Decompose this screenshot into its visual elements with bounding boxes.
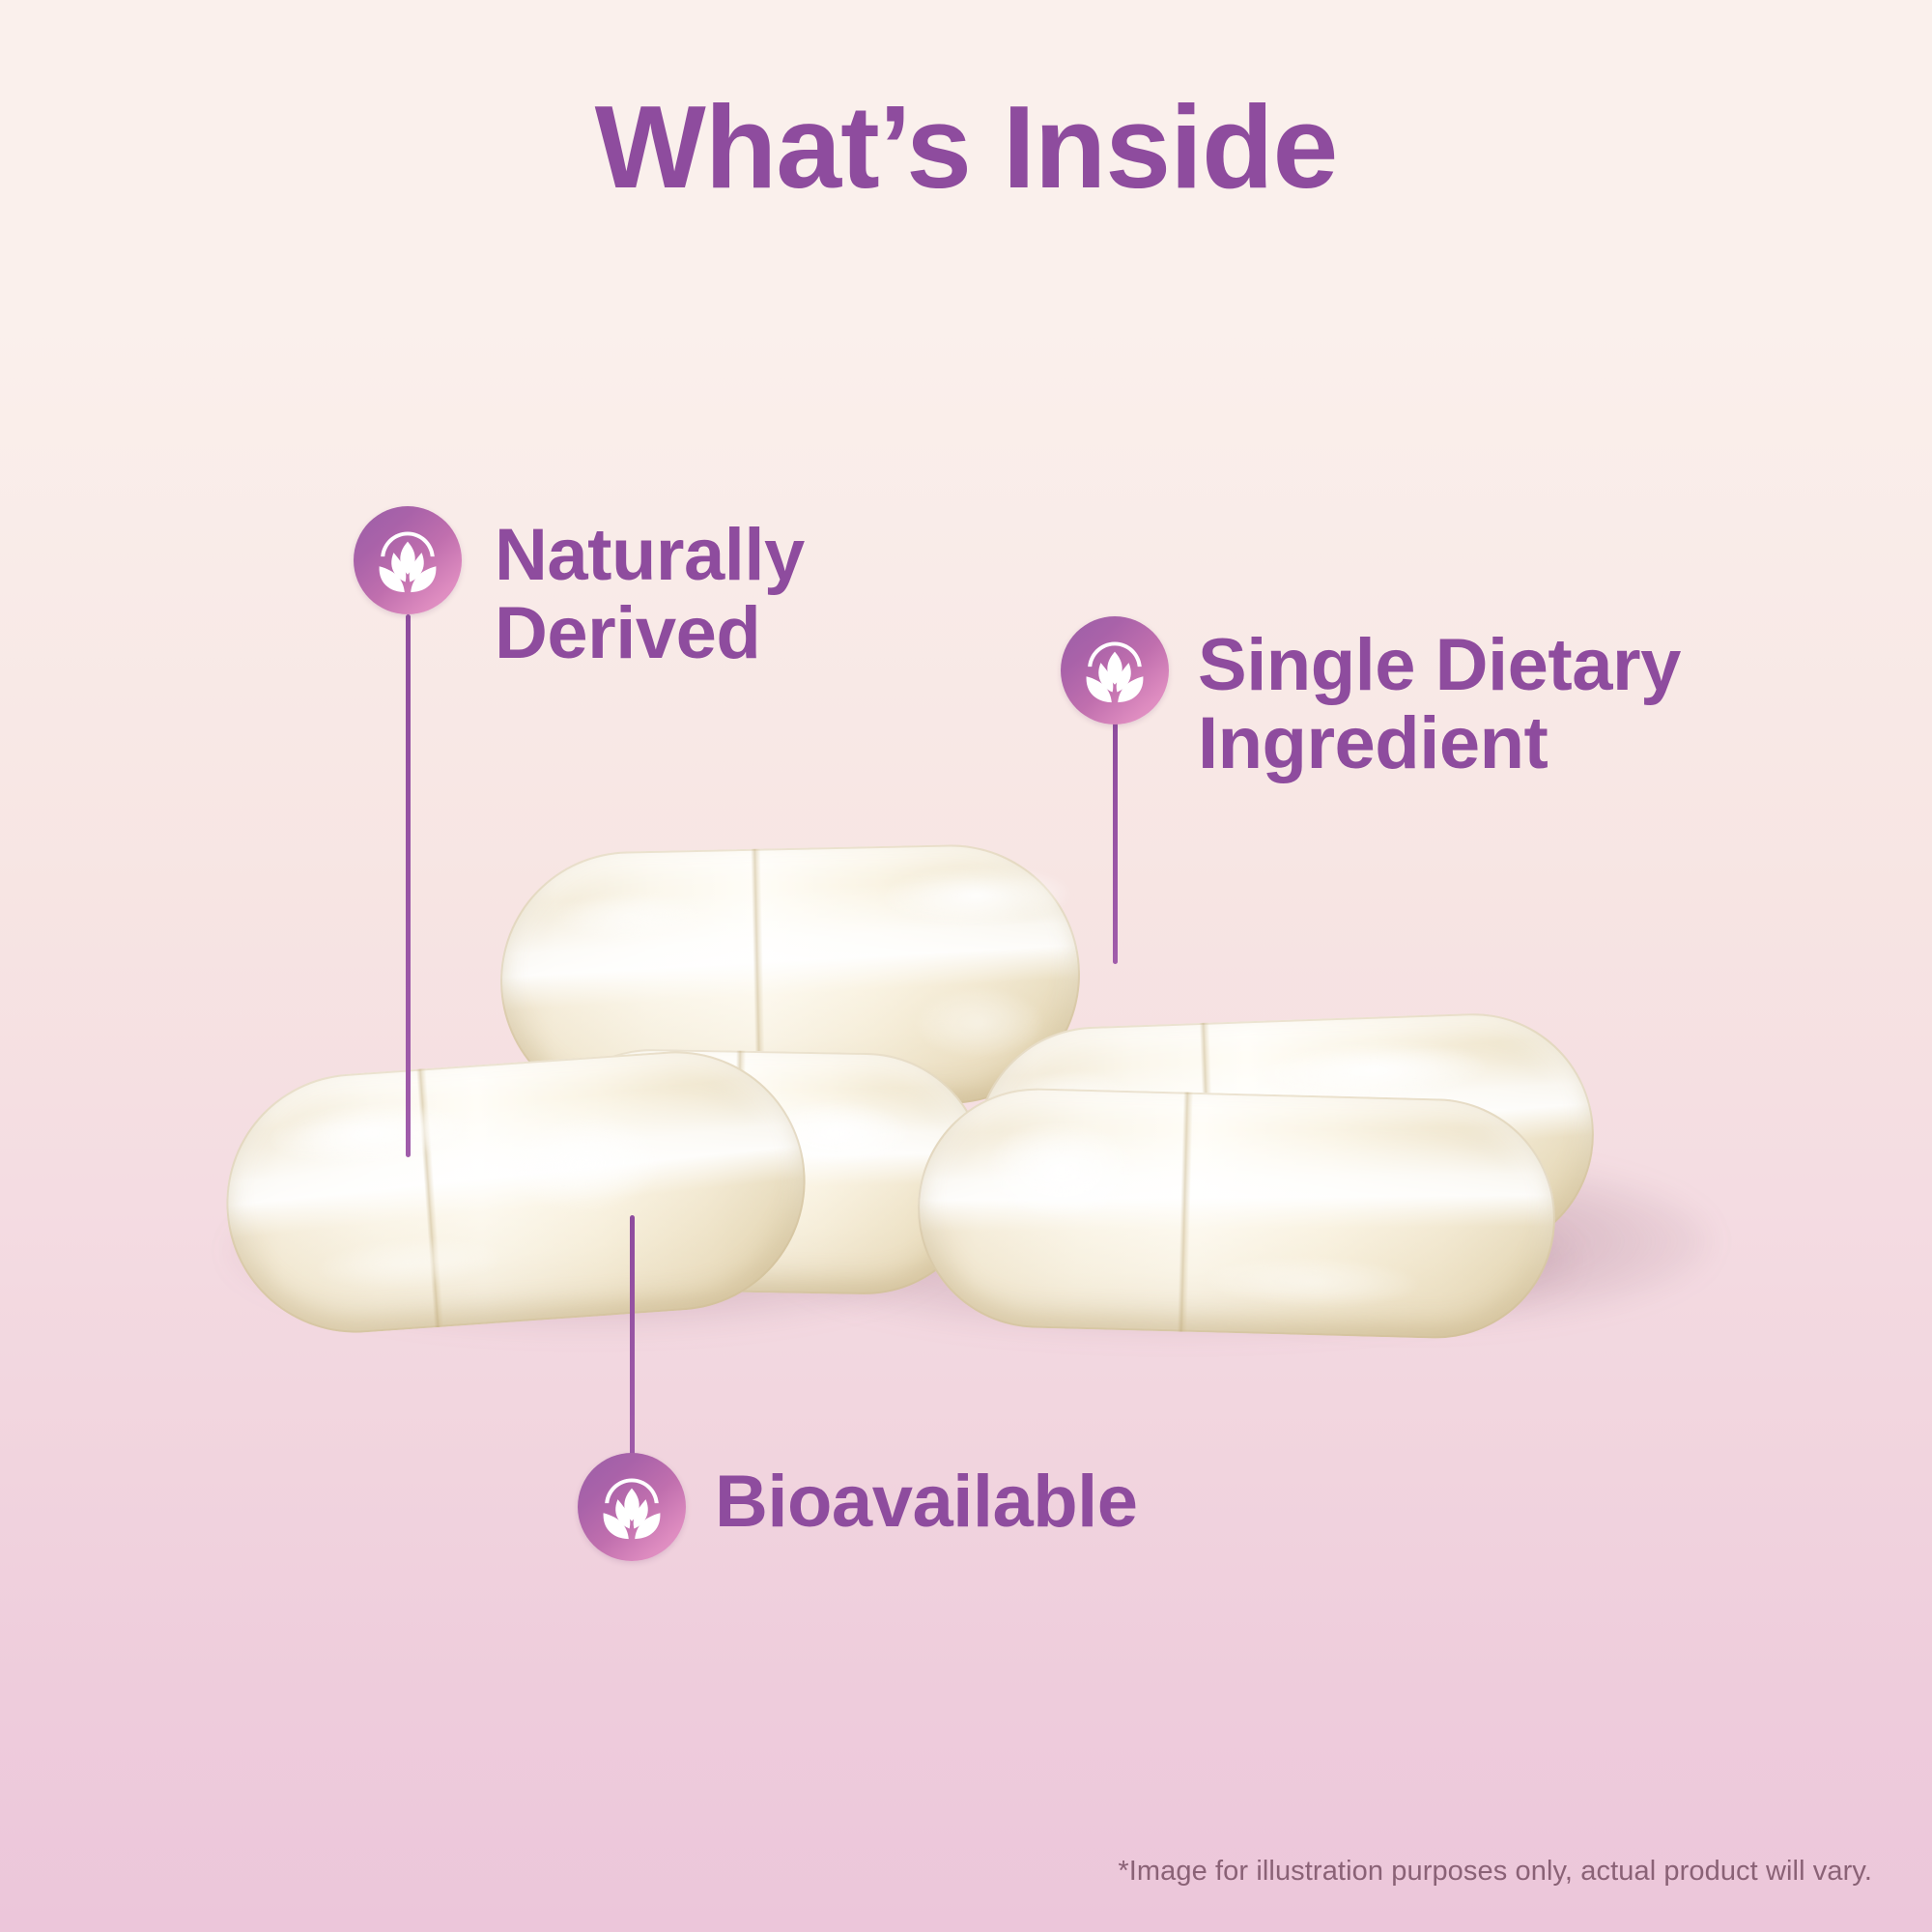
- disclaimer-text: *Image for illustration purposes only, a…: [1118, 1856, 1872, 1888]
- capsule: [915, 1085, 1558, 1341]
- lotus-icon: [354, 506, 462, 614]
- capsules-photo: [241, 840, 1690, 1362]
- callout-label: Single Dietary Ingredient: [1198, 626, 1932, 783]
- page-title: What’s Inside: [0, 85, 1932, 209]
- callout-label: Bioavailable: [715, 1463, 1449, 1541]
- lotus-icon: [1061, 616, 1169, 724]
- callout-connector-line: [406, 614, 411, 1157]
- callout-connector-line: [630, 1215, 635, 1474]
- callout-label: Naturally Derived: [495, 516, 1113, 673]
- capsule: [217, 1042, 813, 1341]
- callout-connector-line: [1113, 723, 1118, 964]
- lotus-icon: [578, 1453, 686, 1561]
- whats-inside-panel: What’s Inside: [0, 0, 1932, 1932]
